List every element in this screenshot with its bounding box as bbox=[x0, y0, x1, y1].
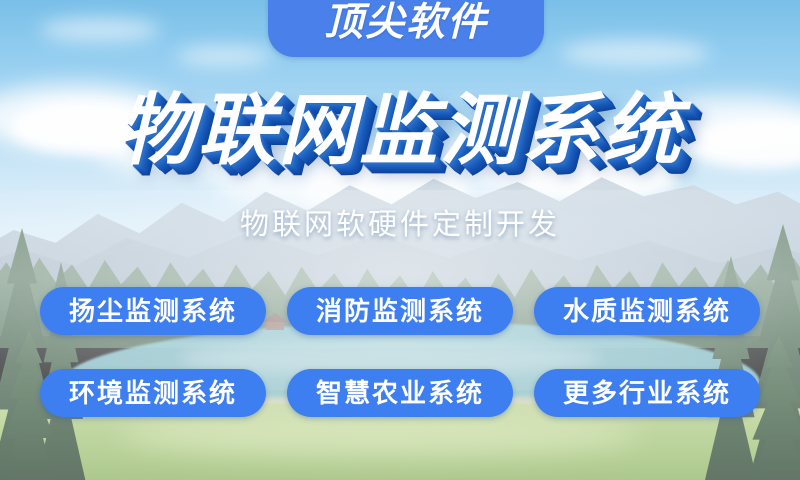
hero-subtitle: 物联网软硬件定制开发 bbox=[240, 208, 560, 243]
system-button-label: 扬尘监测系统 bbox=[69, 298, 237, 324]
system-button-more-industries[interactable]: 更多行业系统 bbox=[534, 369, 760, 417]
brand-badge-label: 顶尖软件 bbox=[324, 3, 488, 57]
system-button-label: 环境监测系统 bbox=[69, 380, 237, 406]
system-button-grid: 扬尘监测系统 消防监测系统 水质监测系统 环境监测系统 智慧农业系统 更多行业系… bbox=[40, 287, 760, 417]
system-button-dust[interactable]: 扬尘监测系统 bbox=[40, 287, 266, 335]
system-button-fire[interactable]: 消防监测系统 bbox=[287, 287, 513, 335]
system-button-environment[interactable]: 环境监测系统 bbox=[40, 369, 266, 417]
system-button-label: 智慧农业系统 bbox=[316, 380, 484, 406]
system-button-water-quality[interactable]: 水质监测系统 bbox=[534, 287, 760, 335]
system-button-label: 消防监测系统 bbox=[316, 298, 484, 324]
system-button-smart-agriculture[interactable]: 智慧农业系统 bbox=[287, 369, 513, 417]
banner-content: 顶尖软件 物联网监测系统 物联网软硬件定制开发 扬尘监测系统 消防监测系统 水质… bbox=[0, 0, 800, 480]
hero-title-container: 物联网监测系统 bbox=[0, 88, 800, 172]
system-button-label: 更多行业系统 bbox=[563, 380, 731, 406]
brand-badge[interactable]: 顶尖软件 bbox=[268, 0, 544, 57]
hero-subtitle-container: 物联网软硬件定制开发 bbox=[0, 208, 800, 243]
hero-title: 物联网监测系统 bbox=[116, 88, 683, 172]
system-button-label: 水质监测系统 bbox=[563, 298, 731, 324]
promo-banner: 顶尖软件 物联网监测系统 物联网软硬件定制开发 扬尘监测系统 消防监测系统 水质… bbox=[0, 0, 800, 480]
